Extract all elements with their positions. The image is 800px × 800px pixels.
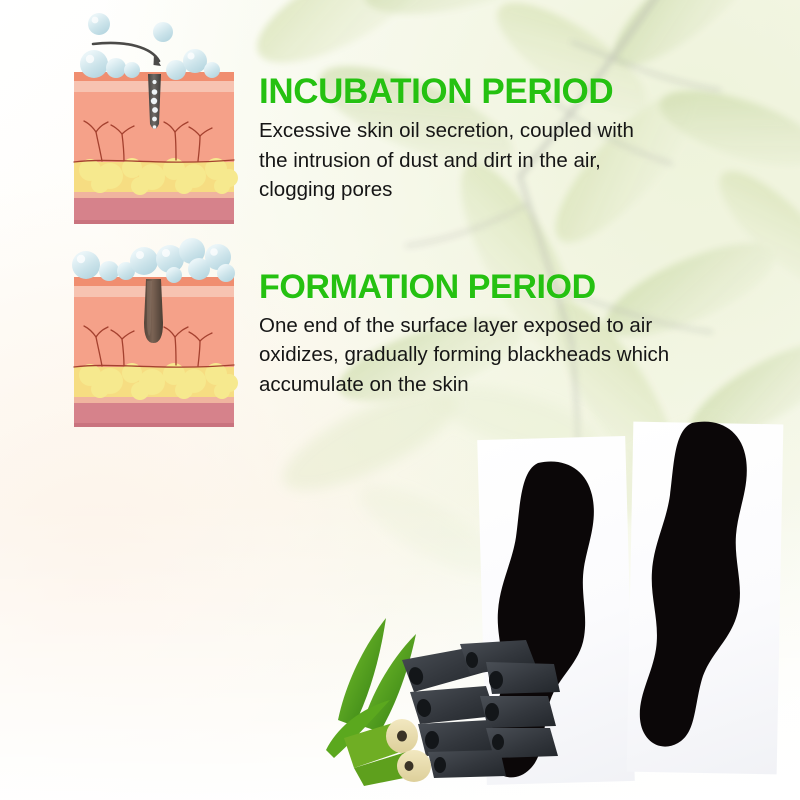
water-droplets xyxy=(72,238,235,283)
section-formation: FORMATION PERIOD One end of the surface … xyxy=(259,270,699,399)
formation-body: One end of the surface layer exposed to … xyxy=(259,311,699,398)
skin-cross-section-blackhead-illustration xyxy=(66,237,242,429)
clogged-pore xyxy=(148,74,161,129)
bamboo-charcoal-and-leaves xyxy=(310,600,580,790)
nose-strip-right xyxy=(628,417,778,753)
formation-heading: FORMATION PERIOD xyxy=(259,270,699,305)
skin-cross-section-clogged-pore-illustration xyxy=(66,4,242,224)
blackhead-plug xyxy=(144,279,163,343)
section-incubation: INCUBATION PERIOD Excessive skin oil sec… xyxy=(259,74,659,204)
water-droplets xyxy=(80,13,220,80)
incubation-heading: INCUBATION PERIOD xyxy=(259,74,659,110)
product-photo-group xyxy=(300,415,800,800)
product-infographic-page: INCUBATION PERIOD Excessive skin oil sec… xyxy=(0,0,800,800)
incubation-body: Excessive skin oil secretion, coupled wi… xyxy=(259,116,659,203)
